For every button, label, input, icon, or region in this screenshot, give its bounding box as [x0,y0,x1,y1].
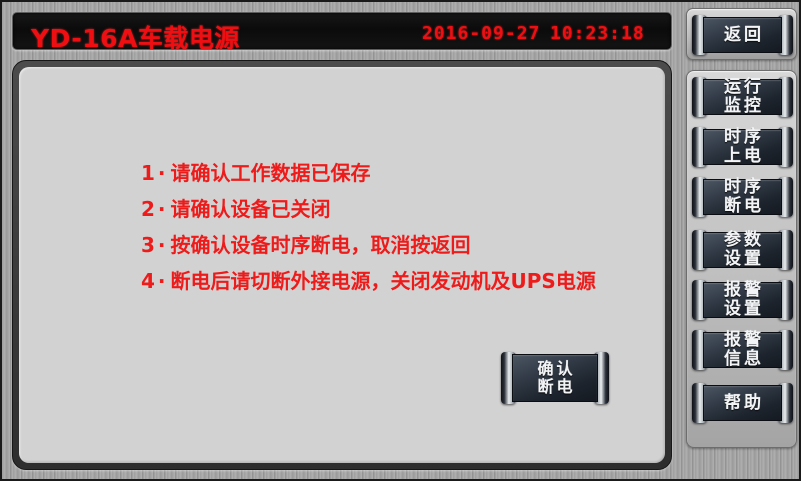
sidebar-item-return[interactable]: 返回 [692,15,793,55]
instruction-number: 1 [141,161,155,185]
confirm-button-line1: 确认 [534,360,575,378]
sidebar-item-parameter-settings[interactable]: 参数 设置 [692,230,793,270]
title-bar: YD-16A车载电源 2016-09-27 10:23:18 [12,12,672,50]
sidebar-item-label-line1: 报警 [721,331,764,350]
instruction-text: 按确认设备时序断电，取消按返回 [171,233,471,257]
sidebar-item-label-line2: 设置 [721,250,764,269]
system-date: 2016-09-27 [422,23,540,44]
confirm-power-off-button[interactable]: 确认 断电 [501,352,609,404]
confirm-button-line2: 断电 [534,378,575,396]
sidebar-item-label-line1: 报警 [721,281,764,300]
sidebar-item-label-line1: 运行 [721,78,764,97]
sidebar-item-label-line1: 参数 [721,231,764,250]
page-title: YD-16A车载电源 [31,19,240,50]
instruction-number: 2 [141,197,155,221]
instruction-number: 4 [141,269,155,293]
sidebar-item-run-monitor[interactable]: 运行 监控 [692,77,793,117]
sidebar-item-alarm-info[interactable]: 报警 信息 [692,330,793,370]
instruction-number: 3 [141,233,155,257]
sidebar-item-label-line2: 信息 [721,350,764,369]
instruction-item: 2·请确认设备已关闭 [141,191,596,227]
sidebar-item-alarm-settings[interactable]: 报警 设置 [692,280,793,320]
sidebar-item-label-line2: 设置 [721,300,764,319]
button-face: 确认 断电 [512,354,598,402]
sidebar-item-help[interactable]: 帮助 [692,383,793,423]
instruction-separator: · [158,161,166,185]
system-time: 10:23:18 [550,23,645,44]
button-face: 返回 [703,17,782,53]
sidebar-item-label: 帮助 [721,394,764,413]
instruction-text: 请确认设备已关闭 [171,197,331,221]
instruction-separator: · [158,269,166,293]
sidebar-item-label-line1: 时序 [721,178,764,197]
instruction-list: 1·请确认工作数据已保存 2·请确认设备已关闭 3·按确认设备时序断电，取消按返… [141,155,596,299]
instruction-item: 4·断电后请切断外接电源，关闭发动机及UPS电源 [141,263,596,299]
content-frame: 1·请确认工作数据已保存 2·请确认设备已关闭 3·按确认设备时序断电，取消按返… [12,60,672,470]
instruction-text: 断电后请切断外接电源，关闭发动机及UPS电源 [171,269,596,293]
sidebar-item-label: 返回 [721,26,764,45]
button-face: 时序 上电 [703,129,782,165]
button-face: 报警 信息 [703,332,782,368]
instruction-separator: · [158,233,166,257]
sidebar-item-label-line1: 时序 [721,128,764,147]
button-face: 运行 监控 [703,79,782,115]
sidebar-item-label-line2: 断电 [721,197,764,216]
instruction-text: 请确认工作数据已保存 [171,161,371,185]
button-face: 时序 断电 [703,179,782,215]
hmi-screen: YD-16A车载电源 2016-09-27 10:23:18 1·请确认工作数据… [0,0,801,481]
sidebar-top-panel: 返回 [686,8,797,60]
button-face: 报警 设置 [703,282,782,318]
instruction-item: 1·请确认工作数据已保存 [141,155,596,191]
sidebar-item-sequence-power-off[interactable]: 时序 断电 [692,177,793,217]
sidebar-main-panel: 运行 监控 时序 上电 时序 断电 参数 设置 [686,70,797,448]
content-panel: 1·请确认工作数据已保存 2·请确认设备已关闭 3·按确认设备时序断电，取消按返… [19,67,665,463]
button-face: 帮助 [703,385,782,421]
button-face: 参数 设置 [703,232,782,268]
sidebar-item-label-line2: 上电 [721,147,764,166]
sidebar-item-label-line2: 监控 [721,97,764,116]
sidebar-item-sequence-power-on[interactable]: 时序 上电 [692,127,793,167]
instruction-item: 3·按确认设备时序断电，取消按返回 [141,227,596,263]
instruction-separator: · [158,197,166,221]
